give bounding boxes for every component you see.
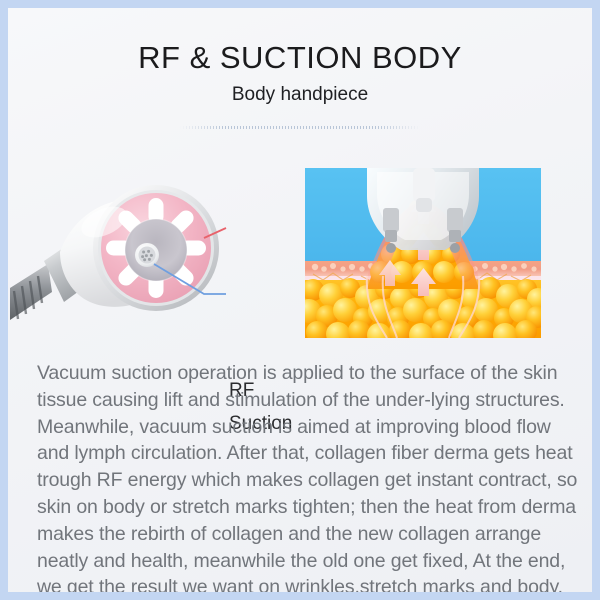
handpiece-suction-nozzle: [135, 243, 159, 267]
handpiece-illustration: [8, 160, 308, 350]
content-panel: RF & SUCTION BODY Body handpiece: [8, 8, 592, 592]
skin-cross-section-diagram: [305, 168, 541, 338]
description-paragraph: Vacuum suction operation is applied to t…: [37, 360, 583, 592]
page-frame: RF & SUCTION BODY Body handpiece: [0, 0, 600, 600]
handpiece-photo: RF Suction: [8, 160, 308, 350]
handpiece-cable: [10, 264, 52, 320]
page-title: RF & SUCTION BODY: [8, 40, 592, 76]
page-subtitle: Body handpiece: [8, 84, 592, 106]
header-divider: [180, 126, 420, 129]
cross-section-illustration: [305, 168, 541, 338]
